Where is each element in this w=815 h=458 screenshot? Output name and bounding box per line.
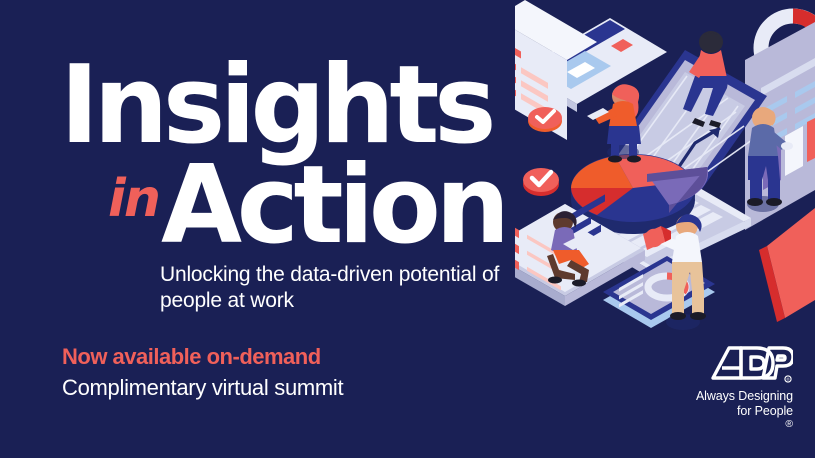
logo-tagline: Always Designing for People® (663, 389, 793, 436)
logo-tagline-line-2: for People® (663, 404, 793, 436)
illustration-svg (515, 0, 815, 340)
cta-secondary-text: Complimentary virtual summit (62, 374, 343, 402)
subtitle: Unlocking the data-driven potential of p… (160, 262, 530, 314)
person-with-tablet (587, 84, 641, 162)
copy-block: Insights inAction Unlocking the data-dri… (0, 0, 540, 458)
isometric-data-analytics-illustration (515, 0, 815, 340)
coral-angled-shape (759, 208, 815, 322)
adp-logo: ® Always Designing for People® (663, 342, 793, 436)
marketing-banner: Insights inAction Unlocking the data-dri… (0, 0, 815, 458)
logo-tagline-line-1: Always Designing (663, 389, 793, 404)
adp-logo-mark: ® (689, 342, 793, 384)
tagline-registered-mark: ® (785, 419, 793, 430)
headline-action-word: Action (161, 152, 505, 260)
headline-in-word: in (108, 173, 159, 225)
cta-primary-text: Now available on-demand (62, 344, 321, 370)
